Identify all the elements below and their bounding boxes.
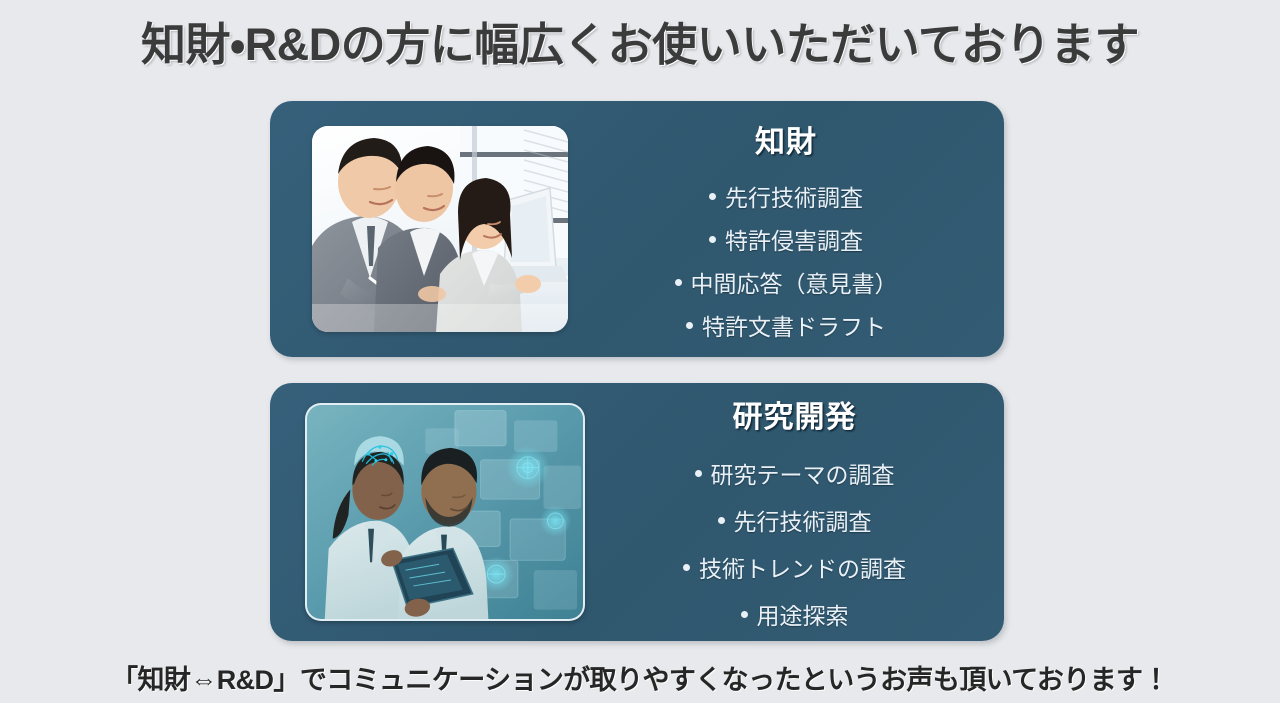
- bullet-dot-icon: [686, 322, 693, 329]
- slide-root: 知財・R&Dの方に幅広くお使いいただいております: [0, 0, 1280, 703]
- card-list: 知財 先行技術調査 特許侵害調査 中間応答（意見書） 特許文書ドラフト: [270, 101, 1004, 641]
- list-item-label: 先行技術調査: [734, 509, 872, 535]
- list-item: 先行技術調査: [585, 499, 1004, 546]
- page-title: 知財・R&Dの方に幅広くお使いいただいております: [0, 8, 1280, 73]
- list-item-label: 用途探索: [757, 603, 849, 629]
- list-item: 中間応答（意見書）: [568, 263, 1004, 306]
- bullet-list-intellectual-property: 先行技術調査 特許侵害調査 中間応答（意見書） 特許文書ドラフト: [568, 177, 1004, 349]
- list-item-label: 特許侵害調査: [725, 228, 863, 254]
- bullet-dot-icon: [695, 470, 702, 477]
- list-item: 用途探索: [585, 593, 1004, 640]
- list-item: 先行技術調査: [568, 177, 1004, 220]
- list-item-label: 先行技術調査: [725, 185, 863, 211]
- photo-business-team: [312, 126, 568, 332]
- bullet-dot-icon: [741, 611, 748, 618]
- footer-note: 「知財⇔R&D」でコミュニケーションが取りやすくなったというお声も頂いております…: [0, 658, 1280, 697]
- card-heading: 研究開発: [733, 392, 857, 436]
- card-heading: 知財: [755, 117, 817, 161]
- list-item-label: 技術トレンドの調査: [699, 556, 906, 582]
- bullet-list-research-development: 研究テーマの調査 先行技術調査 技術トレンドの調査 用途探索: [585, 452, 1004, 640]
- photo-researchers: [305, 403, 585, 621]
- list-item: 研究テーマの調査: [585, 452, 1004, 499]
- bullet-dot-icon: [709, 193, 716, 200]
- list-item-label: 研究テーマの調査: [711, 462, 895, 488]
- bullet-dot-icon: [709, 236, 716, 243]
- card-intellectual-property: 知財 先行技術調査 特許侵害調査 中間応答（意見書） 特許文書ドラフト: [270, 101, 1004, 357]
- bullet-dot-icon: [683, 564, 690, 571]
- list-item-label: 特許文書ドラフト: [702, 314, 886, 340]
- card-body-intellectual-property: 知財 先行技術調査 特許侵害調査 中間応答（意見書） 特許文書ドラフト: [568, 109, 1004, 349]
- card-body-research-development: 研究開発 研究テーマの調査 先行技術調査 技術トレンドの調査 用途探索: [585, 384, 1004, 640]
- bullet-dot-icon: [718, 517, 725, 524]
- list-item: 技術トレンドの調査: [585, 546, 1004, 593]
- bullet-dot-icon: [675, 279, 682, 286]
- list-item-label: 中間応答（意見書）: [691, 271, 898, 297]
- list-item: 特許侵害調査: [568, 220, 1004, 263]
- list-item: 特許文書ドラフト: [568, 306, 1004, 349]
- card-research-development: 研究開発 研究テーマの調査 先行技術調査 技術トレンドの調査 用途探索: [270, 383, 1004, 641]
